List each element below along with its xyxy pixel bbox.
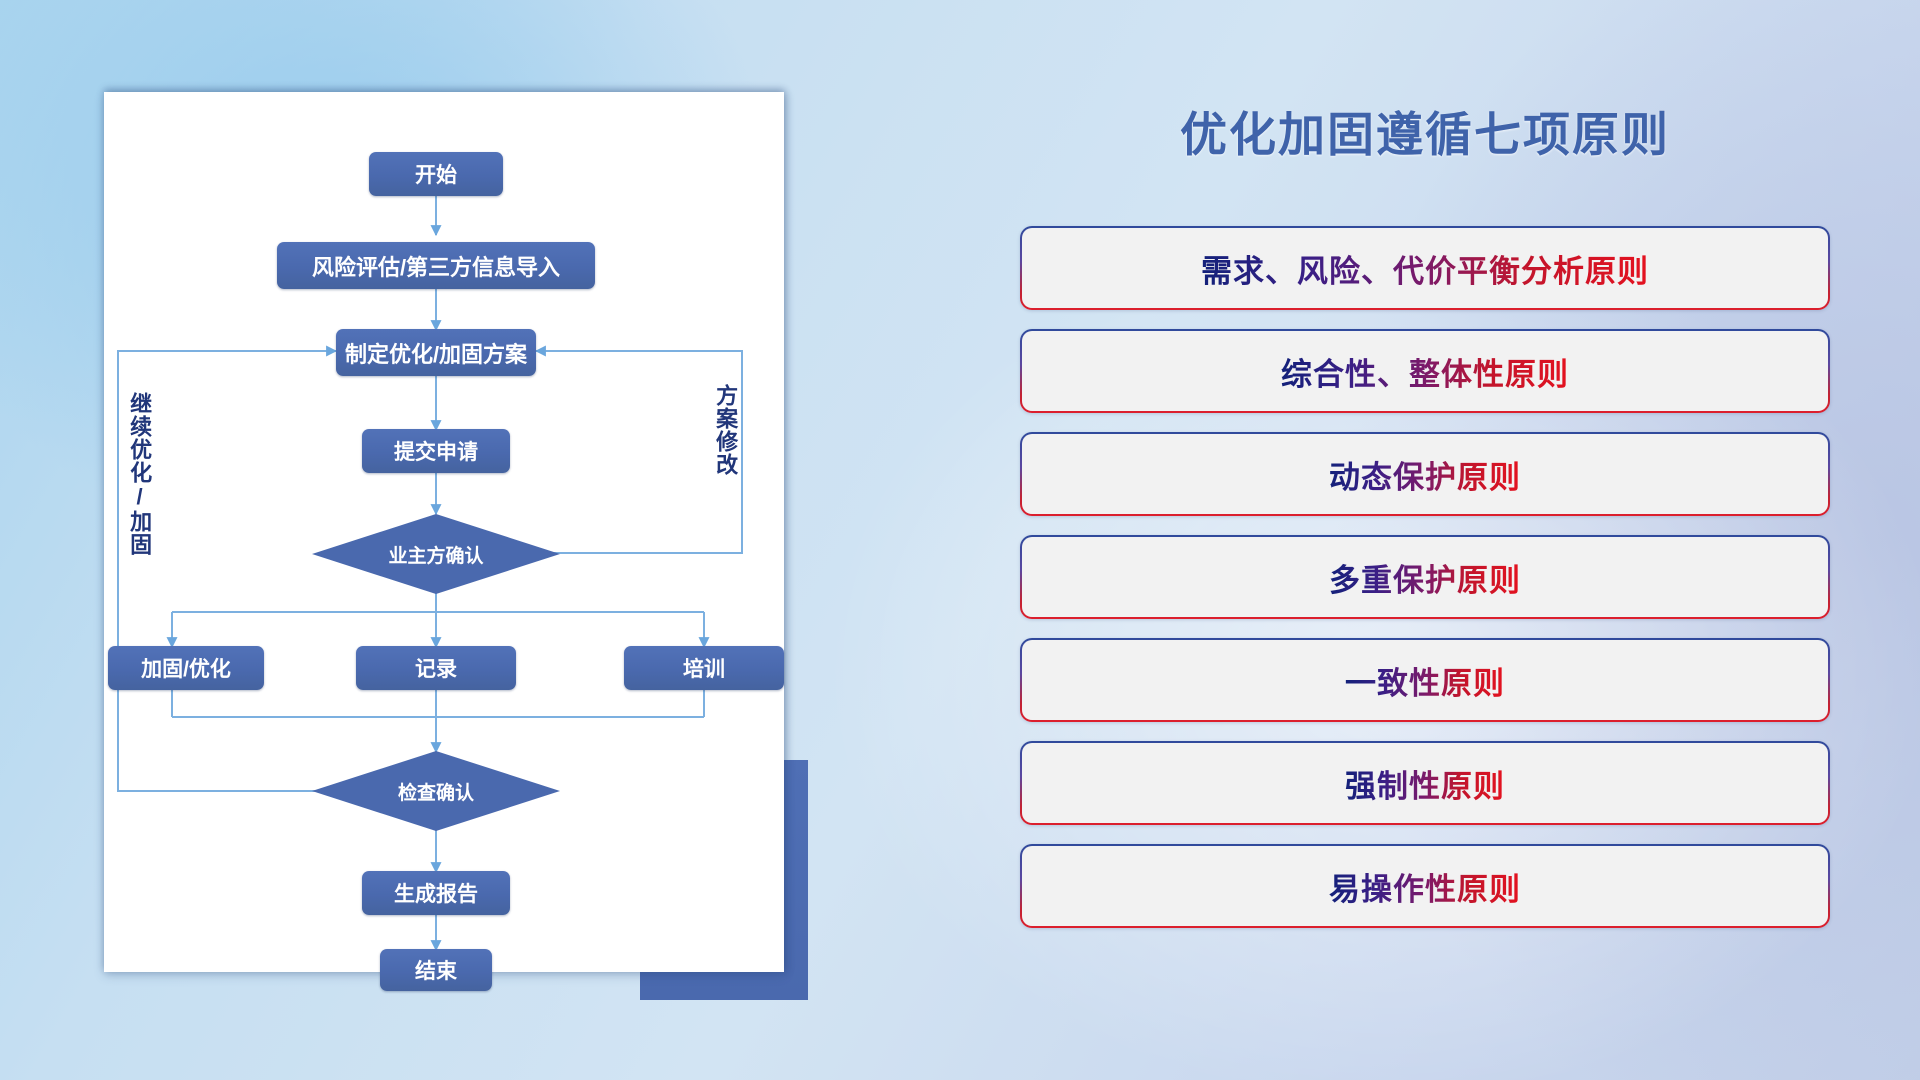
principle-card[interactable]: 需求、风险、代价平衡分析原则 (1020, 226, 1830, 310)
flow-node-risk-assessment[interactable]: 风险评估/第三方信息导入 (277, 242, 595, 289)
flow-node-end[interactable]: 结束 (380, 949, 492, 991)
principle-label: 动态保护原则 (1329, 452, 1521, 497)
principle-label: 一致性原则 (1345, 658, 1505, 703)
flow-node-label: 提交申请 (394, 436, 478, 466)
flow-node-label: 业主方确认 (388, 541, 483, 568)
flow-node-label: 记录 (415, 653, 457, 683)
flow-node-label: 生成报告 (394, 878, 478, 908)
edge-label-continue-optimize: 继续优化/加固 (128, 392, 151, 556)
flow-node-label: 培训 (683, 653, 725, 683)
principle-card[interactable]: 动态保护原则 (1020, 432, 1830, 516)
principle-label: 需求、风险、代价平衡分析原则 (1201, 246, 1649, 291)
flow-node-submit-application[interactable]: 提交申请 (362, 429, 510, 473)
principle-label: 易操作性原则 (1329, 864, 1521, 909)
flow-node-start[interactable]: 开始 (369, 152, 503, 196)
flow-node-reinforce-optimize[interactable]: 加固/优化 (108, 646, 264, 690)
flow-node-label: 制定优化/加固方案 (345, 337, 527, 369)
principle-label: 强制性原则 (1345, 761, 1505, 806)
flow-node-label: 检查确认 (398, 778, 474, 805)
flowchart-panel: 开始 风险评估/第三方信息导入 制定优化/加固方案 提交申请 业主方确认 加固/… (104, 92, 784, 972)
edge-label-plan-revision: 方案修改 (714, 384, 737, 476)
principle-label: 多重保护原则 (1329, 555, 1521, 600)
page-title: 优化加固遵循七项原则 (1020, 96, 1830, 165)
principle-card[interactable]: 多重保护原则 (1020, 535, 1830, 619)
flow-node-training[interactable]: 培训 (624, 646, 784, 690)
principles-panel: 优化加固遵循七项原则 需求、风险、代价平衡分析原则 综合性、整体性原则 动态保护… (1020, 96, 1830, 1016)
flow-node-label: 开始 (415, 159, 457, 189)
principle-card[interactable]: 综合性、整体性原则 (1020, 329, 1830, 413)
flow-node-label: 风险评估/第三方信息导入 (312, 250, 560, 282)
principle-card[interactable]: 一致性原则 (1020, 638, 1830, 722)
principles-list: 需求、风险、代价平衡分析原则 综合性、整体性原则 动态保护原则 多重保护原则 一… (1020, 226, 1830, 947)
flow-node-label: 结束 (415, 955, 457, 985)
flow-node-record[interactable]: 记录 (356, 646, 516, 690)
principle-card[interactable]: 易操作性原则 (1020, 844, 1830, 928)
flow-node-make-plan[interactable]: 制定优化/加固方案 (336, 329, 536, 376)
flow-node-label: 加固/优化 (141, 653, 231, 683)
flow-node-generate-report[interactable]: 生成报告 (362, 871, 510, 915)
slide-canvas: 开始 风险评估/第三方信息导入 制定优化/加固方案 提交申请 业主方确认 加固/… (0, 0, 1920, 1080)
principle-label: 综合性、整体性原则 (1281, 349, 1569, 394)
principle-card[interactable]: 强制性原则 (1020, 741, 1830, 825)
